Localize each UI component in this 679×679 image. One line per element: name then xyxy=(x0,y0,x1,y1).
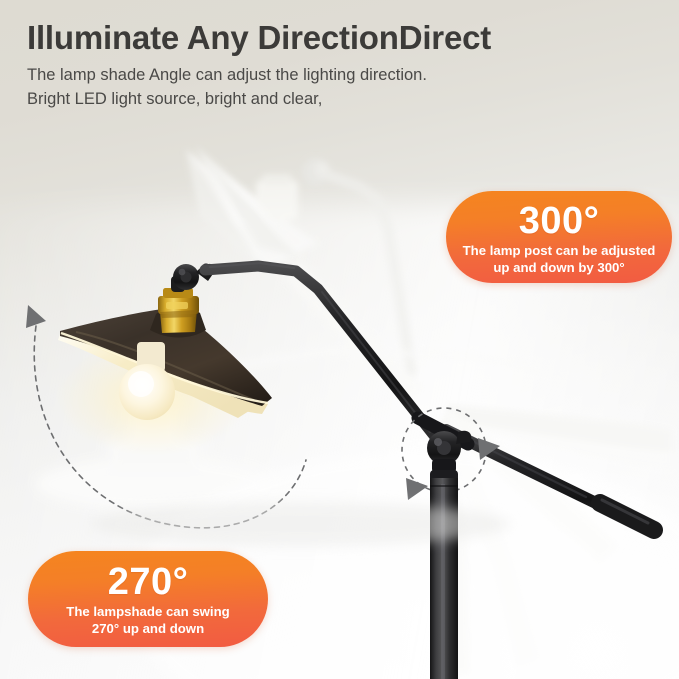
badge-300-degrees: 300° The lamp post can be adjusted up an… xyxy=(446,191,672,283)
lamp-head-assembly xyxy=(56,263,272,456)
badge-300-value: 300° xyxy=(446,202,672,240)
badge-270-value: 270° xyxy=(28,563,268,601)
badge-300-description: The lamp post can be adjusted up and dow… xyxy=(446,240,672,276)
vertical-pole xyxy=(430,470,458,679)
page-title: Illuminate Any DirectionDirect xyxy=(27,20,647,56)
brass-socket xyxy=(158,288,199,333)
product-infographic: Illuminate Any DirectionDirect The lamp … xyxy=(0,0,679,679)
badge-270-description: The lampshade can swing 270° up and down xyxy=(28,601,268,637)
badge-270-degrees: 270° The lampshade can swing 270° up and… xyxy=(28,551,268,647)
subtitle-line-2: Bright LED light source, bright and clea… xyxy=(27,88,647,111)
header-block: Illuminate Any DirectionDirect The lamp … xyxy=(27,20,647,111)
subtitle-line-1: The lamp shade Angle can adjust the ligh… xyxy=(27,64,647,87)
